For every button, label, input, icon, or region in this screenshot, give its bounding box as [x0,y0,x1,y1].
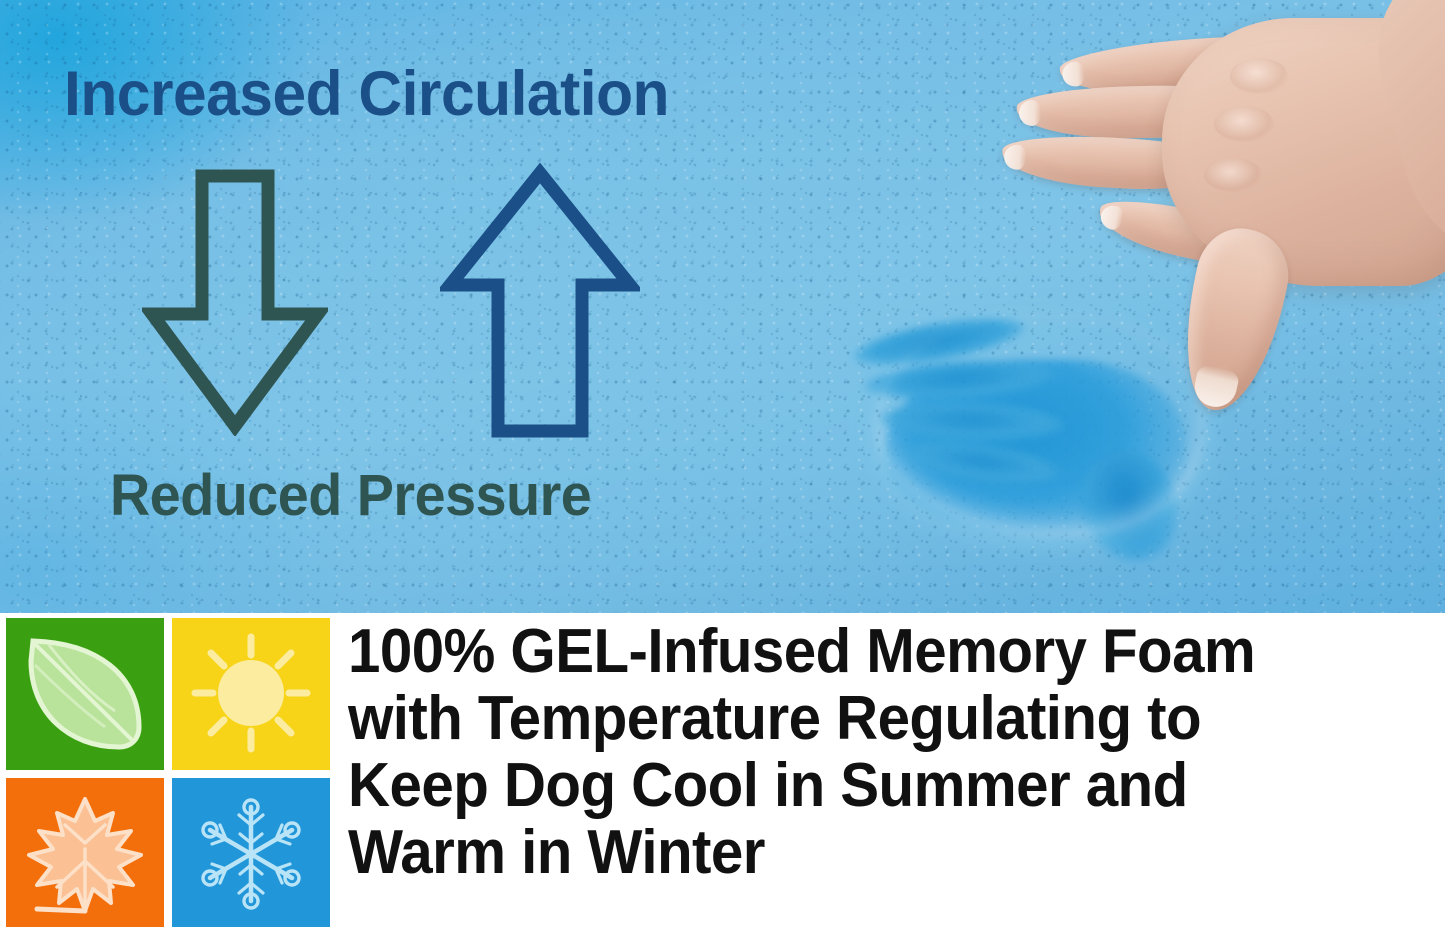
knuckle [1204,158,1262,192]
arrow-up-icon [440,163,640,441]
season-tile-spring [6,618,164,770]
fingernail [1004,144,1027,170]
reduced-pressure-label: Reduced Pressure [110,462,591,529]
season-tile-summer [172,618,330,770]
arrow-down-icon [142,168,328,436]
knuckle [1230,58,1288,94]
headline-text: 100% GEL-Infused Memory Foam with Temper… [348,619,1379,887]
hand [832,0,1445,386]
increased-circulation-label: Increased Circulation [64,58,669,130]
season-tiles [0,613,330,927]
leaf-icon [19,631,151,757]
maple-leaf-icon [19,791,151,917]
fingernail [1099,203,1126,231]
snowflake-icon [185,791,317,917]
headline-block: 100% GEL-Infused Memory Foam with Temper… [330,613,1445,887]
sun-icon [185,631,317,757]
season-tile-autumn [6,778,164,927]
season-tile-winter [172,778,330,927]
memory-foam-photo: Increased Circulation Reduced Pressure [0,0,1445,613]
info-panel: 100% GEL-Infused Memory Foam with Temper… [0,613,1445,927]
knuckle [1214,106,1274,142]
product-feature-graphic: Increased Circulation Reduced Pressure [0,0,1445,927]
fingernail [1061,61,1085,88]
fingernail [1019,100,1041,126]
